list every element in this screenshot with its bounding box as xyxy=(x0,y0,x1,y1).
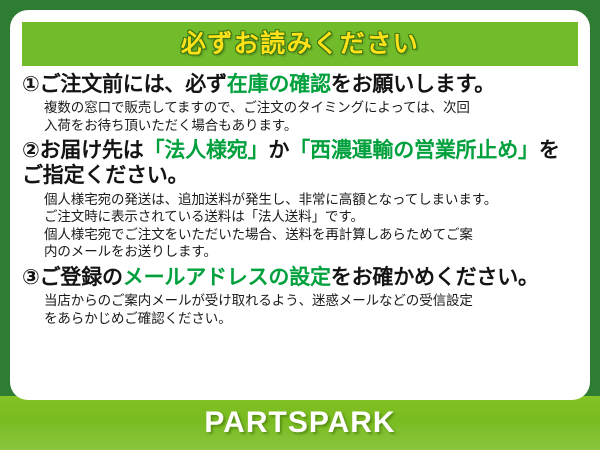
notice-heading-text: か xyxy=(268,139,289,162)
notice-item-description: 複数の窓口で販売してますので、ご注文のタイミングによっては、次回入荷をお待ち頂い… xyxy=(22,99,580,134)
notice-card: 必ずお読みください ①ご注文前には、必ず在庫の確認をお願いします。複数の窓口で販… xyxy=(10,10,590,400)
notice-description-line: 個人様宅宛の発送は、追加送料が発生し、非常に高額となってしまいます。 xyxy=(44,191,580,209)
notice-heading-text: ご登録の xyxy=(40,266,123,289)
notice-item-list: ①ご注文前には、必ず在庫の確認をお願いします。複数の窓口で販売してますので、ご注… xyxy=(10,72,590,331)
notice-item-heading: ②お届け先は「法人様宛」か「西濃運輸の営業所止め」をご指定ください。 xyxy=(22,138,580,188)
banner-title: 必ずお読みください xyxy=(181,32,420,57)
brand-logo-text: PARTSPARK xyxy=(204,406,395,440)
notice-item: ②お届け先は「法人様宛」か「西濃運輸の営業所止め」をご指定ください。個人様宅宛の… xyxy=(22,138,580,261)
notice-heading-text: をお願いします。 xyxy=(331,73,495,96)
notice-item-number: ② xyxy=(22,139,40,162)
notice-description-line: 複数の窓口で販売してますので、ご注文のタイミングによっては、次回 xyxy=(44,99,580,117)
notice-item-description: 当店からのご案内メールが受け取れるよう、迷惑メールなどの受信設定をあらかじめご確… xyxy=(22,292,580,327)
notice-description-line: をあらかじめご確認ください。 xyxy=(44,310,580,328)
notice-description-line: 内のメールをお送りします。 xyxy=(44,243,580,261)
notice-heading-text: お届け先は xyxy=(40,139,144,162)
notice-heading-highlight: 「西濃運輸の営業所止め」 xyxy=(289,139,539,162)
notice-item-heading: ③ご登録のメールアドレスの設定をお確かめください。 xyxy=(22,265,580,290)
notice-item-number: ① xyxy=(22,73,40,96)
notice-item: ①ご注文前には、必ず在庫の確認をお願いします。複数の窓口で販売してますので、ご注… xyxy=(22,72,580,134)
title-bar: 必ずお読みください xyxy=(22,22,578,66)
notice-heading-highlight: 在庫の確認 xyxy=(227,73,331,96)
notice-heading-text: をお確かめください。 xyxy=(331,266,539,289)
notice-banner: 必ずお読みください ①ご注文前には、必ず在庫の確認をお願いします。複数の窓口で販… xyxy=(0,0,600,450)
notice-item-description: 個人様宅宛の発送は、追加送料が発生し、非常に高額となってしまいます。ご注文時に表… xyxy=(22,191,580,261)
notice-description-line: 個人様宅宛でご注文をいただいた場合、送料を再計算しあらためてご案 xyxy=(44,226,580,244)
notice-description-line: ご注文時に表示されている送料は「法人送料」です。 xyxy=(44,208,580,226)
notice-item-number: ③ xyxy=(22,266,40,289)
notice-heading-highlight: 「法人様宛」 xyxy=(144,139,269,162)
notice-description-line: 当店からのご案内メールが受け取れるよう、迷惑メールなどの受信設定 xyxy=(44,292,580,310)
notice-item-heading: ①ご注文前には、必ず在庫の確認をお願いします。 xyxy=(22,72,580,97)
notice-item: ③ご登録のメールアドレスの設定をお確かめください。当店からのご案内メールが受け取… xyxy=(22,265,580,327)
notice-description-line: 入荷をお待ち頂いただく場合もあります。 xyxy=(44,117,580,135)
notice-heading-text: ご注文前には、必ず xyxy=(40,73,227,96)
notice-heading-highlight: メールアドレスの設定 xyxy=(123,266,331,289)
brand-logo: PARTSPARK xyxy=(0,396,600,450)
